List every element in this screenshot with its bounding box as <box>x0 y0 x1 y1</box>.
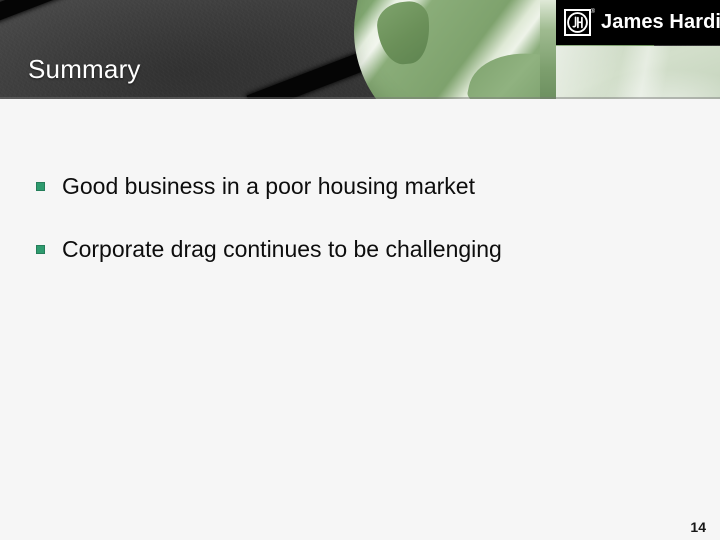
brand-name-text: James Hardie <box>601 11 720 34</box>
page-number: 14 <box>690 519 706 535</box>
registered-trademark-symbol: ® <box>591 9 595 15</box>
slide-header-banner: ® James Hardie Summary <box>0 0 720 99</box>
presentation-slide: ® James Hardie Summary Good business in … <box>0 0 720 540</box>
bullet-text: Corporate drag continues to be challengi… <box>62 236 502 264</box>
square-bullet-icon <box>36 245 45 254</box>
page-title: Summary <box>28 54 141 85</box>
square-bullet-icon <box>36 182 45 191</box>
slide-body: Good business in a poor housing market C… <box>0 99 720 540</box>
james-hardie-monogram-icon: ® <box>564 9 591 36</box>
bullet-list: Good business in a poor housing market C… <box>36 173 656 298</box>
list-item: Corporate drag continues to be challengi… <box>36 236 656 264</box>
list-item: Good business in a poor housing market <box>36 173 656 201</box>
logo-green-panel <box>556 46 720 99</box>
bullet-text: Good business in a poor housing market <box>62 173 475 201</box>
brand-logo-bar: ® James Hardie <box>556 0 720 45</box>
